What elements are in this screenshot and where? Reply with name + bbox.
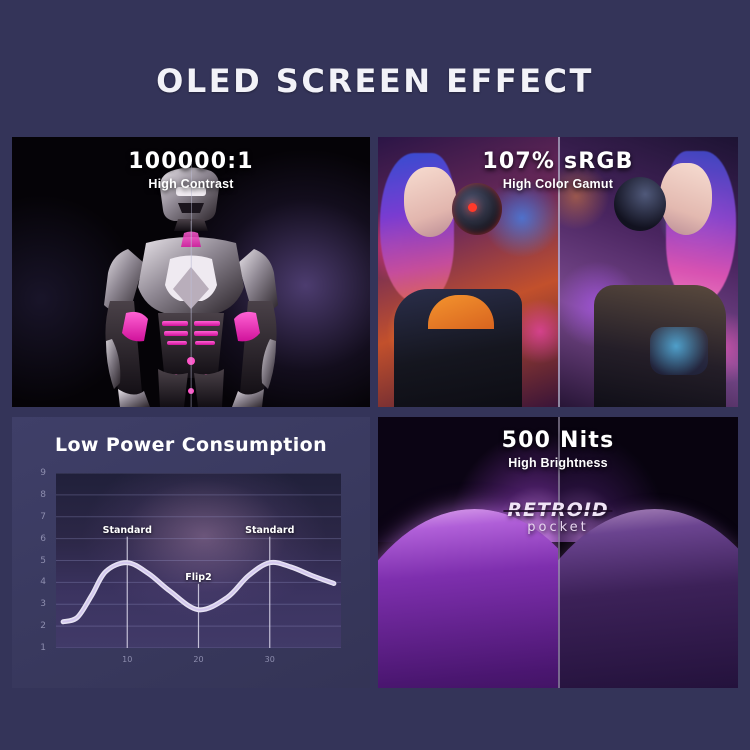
chart-y-tick: 5 (40, 556, 46, 566)
panel-high-contrast: 100000:1 High Contrast (12, 137, 370, 407)
panel-grid: 100000:1 High Contrast (12, 137, 738, 688)
brightness-caption: 500 Nits High Brightness (378, 428, 738, 470)
oled-screen-effect-page: OLED SCREEN EFFECT (0, 0, 750, 750)
brightness-label: High Brightness (378, 456, 738, 470)
chart-y-tick: 1 (40, 643, 46, 653)
gamut-label: High Color Gamut (378, 177, 738, 191)
contrast-caption: 100000:1 High Contrast (12, 149, 370, 191)
chart-title: Low Power Consumption (12, 434, 370, 456)
chart-annotation-label: Standard (245, 525, 294, 536)
chart-annotation-lines (127, 537, 270, 648)
chart-x-tick: 10 (122, 655, 132, 664)
chart-y-tick: 6 (40, 534, 46, 544)
logo-pocket-text: pocket (505, 520, 610, 535)
chart-y-tick: 7 (40, 512, 46, 522)
dune-right (558, 509, 738, 688)
dune-left (378, 509, 558, 688)
panel-low-power: Low Power Consumption 987654321 102030 S… (12, 417, 370, 688)
body-left (394, 289, 522, 407)
chart-y-axis: 987654321 (20, 463, 46, 659)
chart-annotation-label: Flip2 (185, 572, 211, 583)
chart-y-tick: 4 (40, 577, 46, 587)
logo-retroid-text: RETROID (505, 499, 610, 521)
panel-color-gamut: 107% sRGB High Color Gamut (378, 137, 738, 407)
panel-seam-line (191, 163, 192, 407)
panel-brightness: RETROID pocket 500 Nits High Brightness (378, 417, 738, 688)
chart-svg (56, 473, 341, 648)
chart-y-tick: 2 (40, 621, 46, 631)
chart-y-tick: 3 (40, 599, 46, 609)
gamut-caption: 107% sRGB High Color Gamut (378, 149, 738, 191)
chart-x-tick: 30 (265, 655, 275, 664)
chart-x-axis: 102030 (56, 655, 341, 671)
contrast-label: High Contrast (12, 177, 370, 191)
body-right (594, 285, 726, 407)
gamut-value: 107% sRGB (378, 149, 738, 174)
chart-y-tick: 9 (40, 468, 46, 478)
brightness-value: 500 Nits (378, 428, 738, 453)
chart-annotation-label: Standard (103, 525, 152, 536)
retroid-pocket-logo: RETROID pocket (505, 499, 610, 535)
page-title: OLED SCREEN EFFECT (0, 62, 750, 100)
contrast-value: 100000:1 (12, 149, 370, 174)
chart-x-tick: 20 (193, 655, 203, 664)
chart-y-tick: 8 (40, 490, 46, 500)
